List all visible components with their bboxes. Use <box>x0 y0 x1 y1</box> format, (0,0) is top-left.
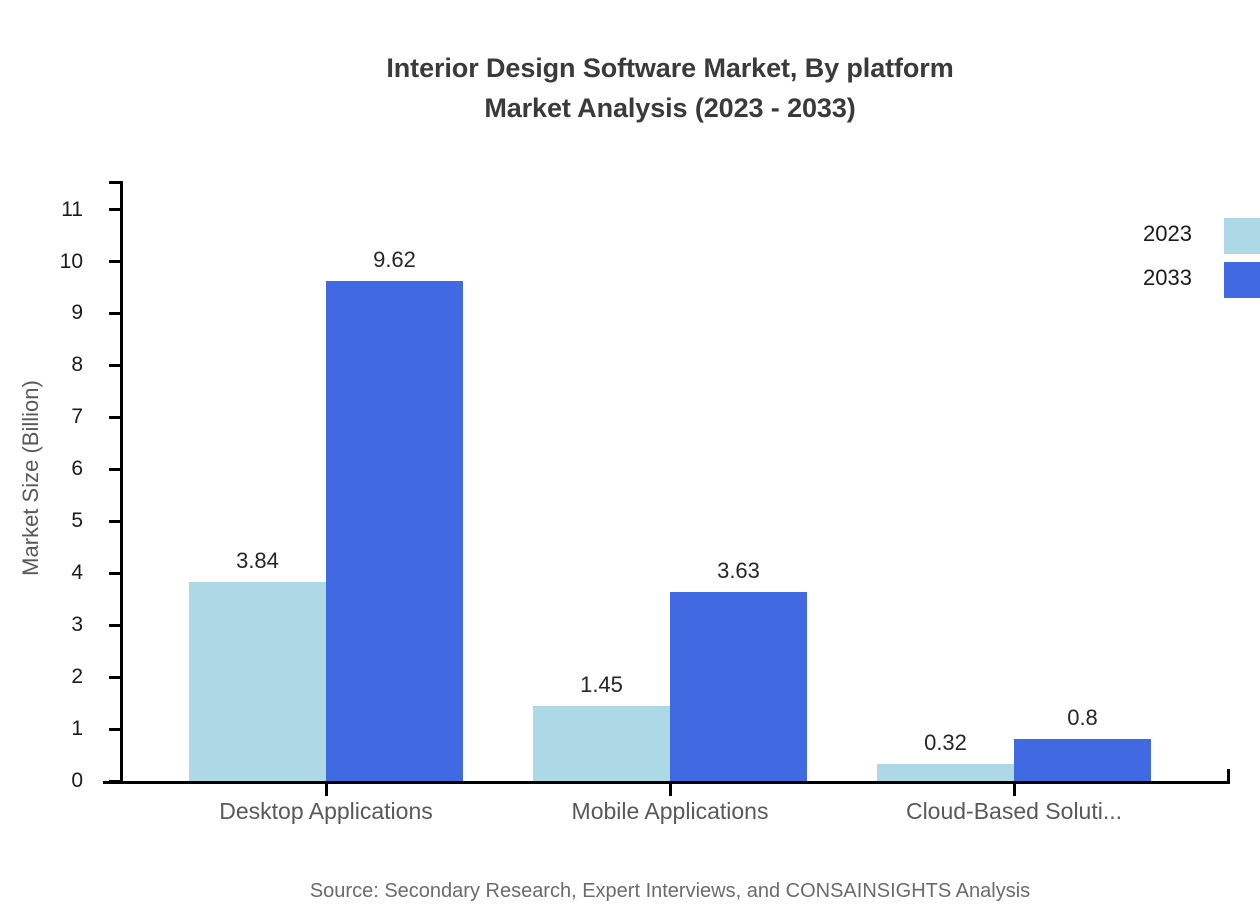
y-axis-tick-label: 11 <box>23 199 83 220</box>
x-axis-spine <box>103 781 1230 784</box>
x-axis-tick-label: Cloud-Based Soluti... <box>814 796 1214 826</box>
y-axis-tick <box>109 676 120 679</box>
x-axis-tick-label: Mobile Applications <box>470 796 870 826</box>
legend-label: 2023 <box>1072 218 1192 250</box>
y-axis-endcap <box>109 181 120 184</box>
y-axis-tick-label: 5 <box>23 510 83 531</box>
legend-item[interactable]: 2033 <box>1106 262 1260 306</box>
y-axis-tick-label: 2 <box>23 666 83 687</box>
y-axis-tick-label: 7 <box>23 406 83 427</box>
y-axis-tick <box>109 208 120 211</box>
legend-swatch <box>1224 218 1260 254</box>
legend-item[interactable]: 2023 <box>1106 218 1260 262</box>
x-axis-tick <box>669 781 672 796</box>
y-axis-tick <box>109 260 120 263</box>
x-axis-tick-label: Desktop Applications <box>126 796 526 826</box>
y-axis-tick-label: 4 <box>23 562 83 583</box>
legend: 20232033 <box>1106 218 1260 306</box>
y-axis-tick <box>109 624 120 627</box>
x-axis-tick <box>325 781 328 796</box>
legend-swatch <box>1224 262 1260 298</box>
bar-value-label: 9.62 <box>295 247 495 273</box>
y-axis-tick <box>109 572 120 575</box>
y-axis-tick <box>109 728 120 731</box>
y-axis-tick-label: 1 <box>23 718 83 739</box>
plot-area: 01234567891011 Desktop ApplicationsMobil… <box>120 181 1230 781</box>
y-axis-tick-label: 9 <box>23 302 83 323</box>
x-axis-endcap <box>1227 769 1230 784</box>
bar[interactable] <box>189 582 326 781</box>
bar[interactable] <box>533 706 670 781</box>
y-axis-tick <box>109 416 120 419</box>
y-axis-tick <box>109 520 120 523</box>
chart-title: Interior Design Software Market, By plat… <box>0 48 1260 128</box>
y-axis-spine <box>120 181 123 782</box>
bar[interactable] <box>326 281 463 781</box>
x-axis-tick <box>1013 781 1016 796</box>
legend-label: 2033 <box>1072 262 1192 294</box>
bar[interactable] <box>1014 739 1151 781</box>
y-axis-tick-label: 0 <box>23 770 83 791</box>
y-axis-tick-label: 8 <box>23 354 83 375</box>
chart-title-line-2: Market Analysis (2023 - 2033) <box>0 88 1260 128</box>
bar[interactable] <box>670 592 807 781</box>
y-axis-tick <box>109 780 120 783</box>
y-axis-tick <box>109 468 120 471</box>
bar-value-label: 0.8 <box>983 705 1183 731</box>
y-axis-tick <box>109 312 120 315</box>
y-axis-tick-label: 3 <box>23 614 83 635</box>
y-axis-tick <box>109 364 120 367</box>
bar-value-label: 3.63 <box>639 558 839 584</box>
chart-title-line-1: Interior Design Software Market, By plat… <box>386 53 953 83</box>
bar[interactable] <box>877 764 1014 781</box>
y-axis-tick-label: 10 <box>23 251 83 272</box>
bar-chart: Interior Design Software Market, By plat… <box>0 0 1260 920</box>
source-note: Source: Secondary Research, Expert Inter… <box>0 877 1260 905</box>
y-axis-tick-label: 6 <box>23 458 83 479</box>
